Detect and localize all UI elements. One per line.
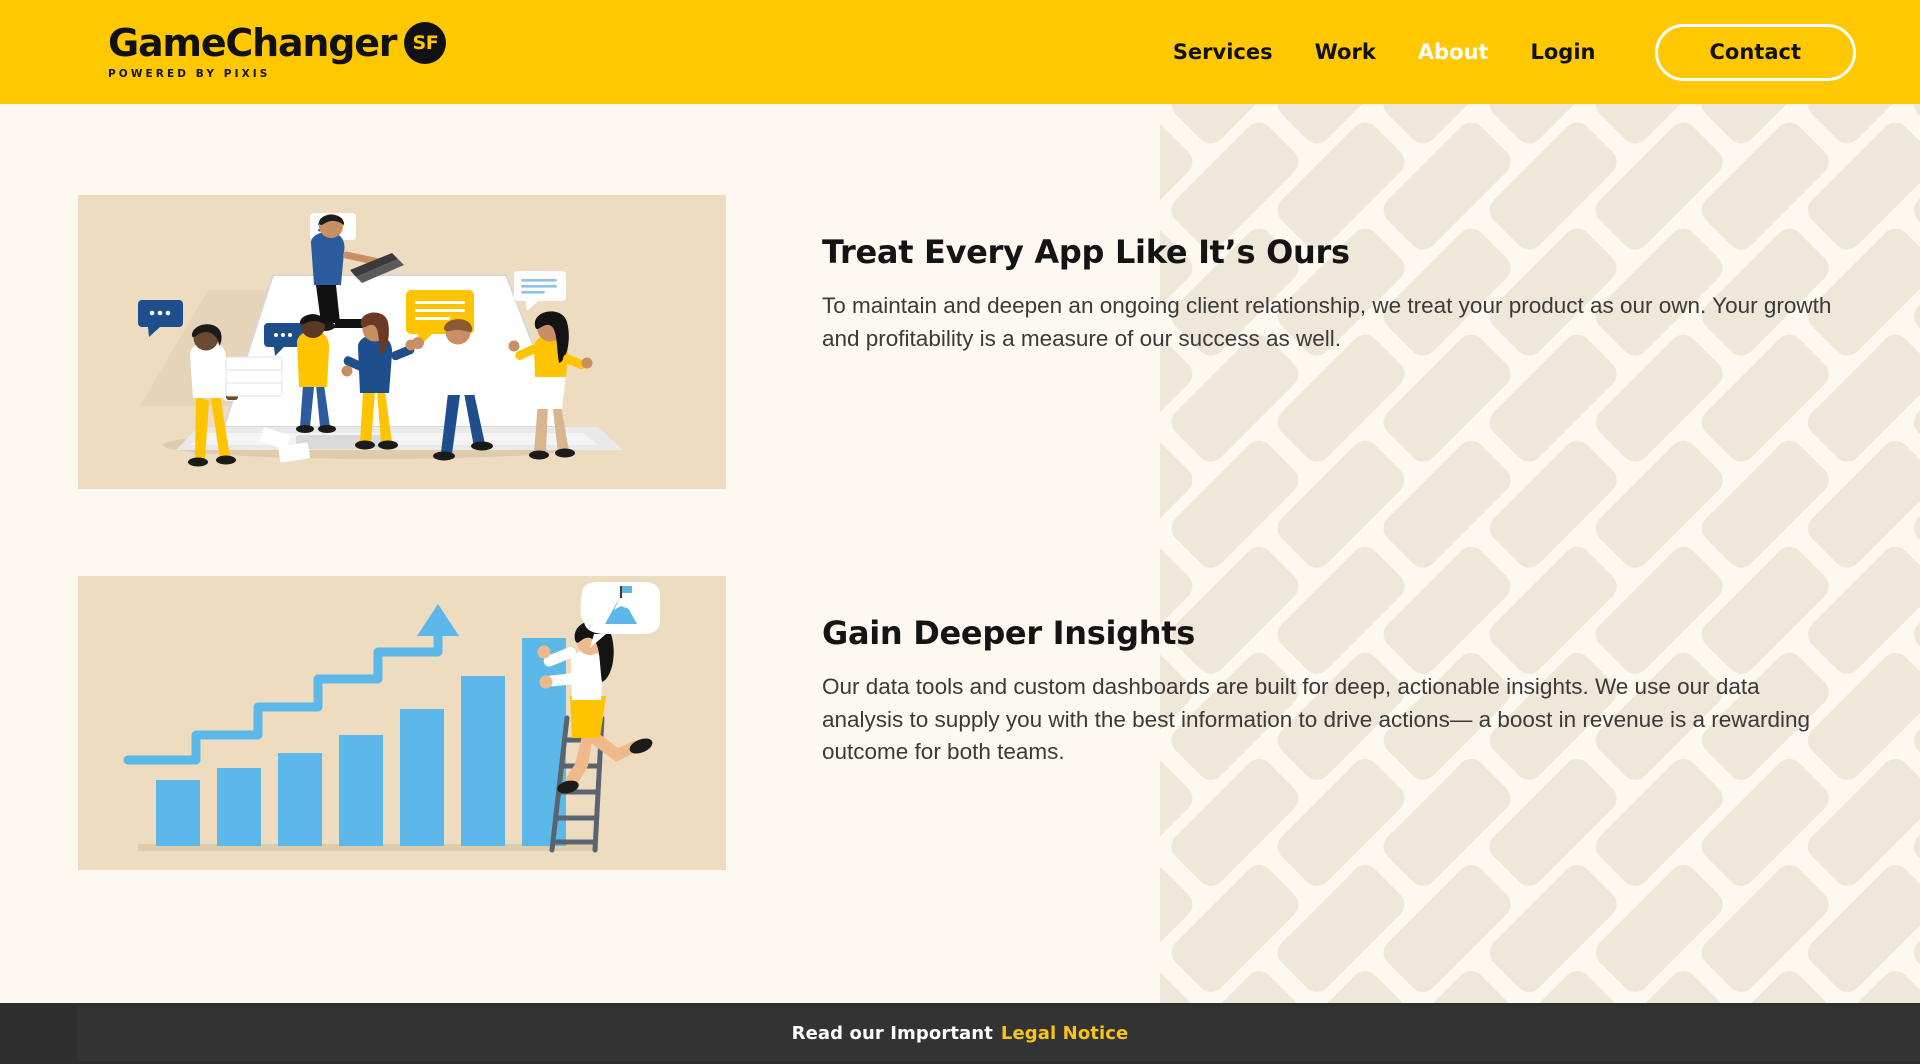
feature-body-1: To maintain and deepen an ongoing client… [822,290,1832,355]
team-collaboration-illustration [78,195,726,489]
legal-notice-text: Read our Important Legal Notice [0,1003,1920,1064]
feature-title-1: Treat Every App Like It’s Ours [822,233,1842,271]
contact-button[interactable]: Contact [1655,24,1857,81]
nav-item-about[interactable]: About [1397,42,1510,63]
brand-logo[interactable]: GameChanger SF POWERED BY PIXIS [108,22,488,82]
growth-bar-chart-illustration [78,576,726,870]
nav-item-work[interactable]: Work [1294,42,1397,63]
page-main: Treat Every App Like It’s Ours To mainta… [0,104,1920,1003]
brand-tagline: POWERED BY PIXIS [108,68,270,80]
nav-item-login[interactable]: Login [1510,42,1617,63]
legal-notice-bar: Read our Important Legal Notice [0,1003,1920,1064]
brand-sf-badge-icon: SF [404,22,446,64]
main-navigation: Services Work About Login Contact [1152,0,1856,104]
feature-text-1: Treat Every App Like It’s Ours To mainta… [822,195,1842,355]
nav-item-services[interactable]: Services [1152,42,1294,63]
legal-notice-link[interactable]: Legal Notice [1001,1023,1128,1044]
legal-notice-prefix: Read our Important [792,1023,993,1044]
site-header: GameChanger SF POWERED BY PIXIS Services… [0,0,1920,104]
brand-wordmark: GameChanger [108,24,396,62]
feature-section-2: Gain Deeper Insights Our data tools and … [0,576,1920,870]
brand-logo-row: GameChanger SF [108,22,488,64]
feature-title-2: Gain Deeper Insights [822,614,1842,652]
feature-section-1: Treat Every App Like It’s Ours To mainta… [0,195,1920,489]
feature-text-2: Gain Deeper Insights Our data tools and … [822,576,1842,769]
feature-body-2: Our data tools and custom dashboards are… [822,671,1832,768]
